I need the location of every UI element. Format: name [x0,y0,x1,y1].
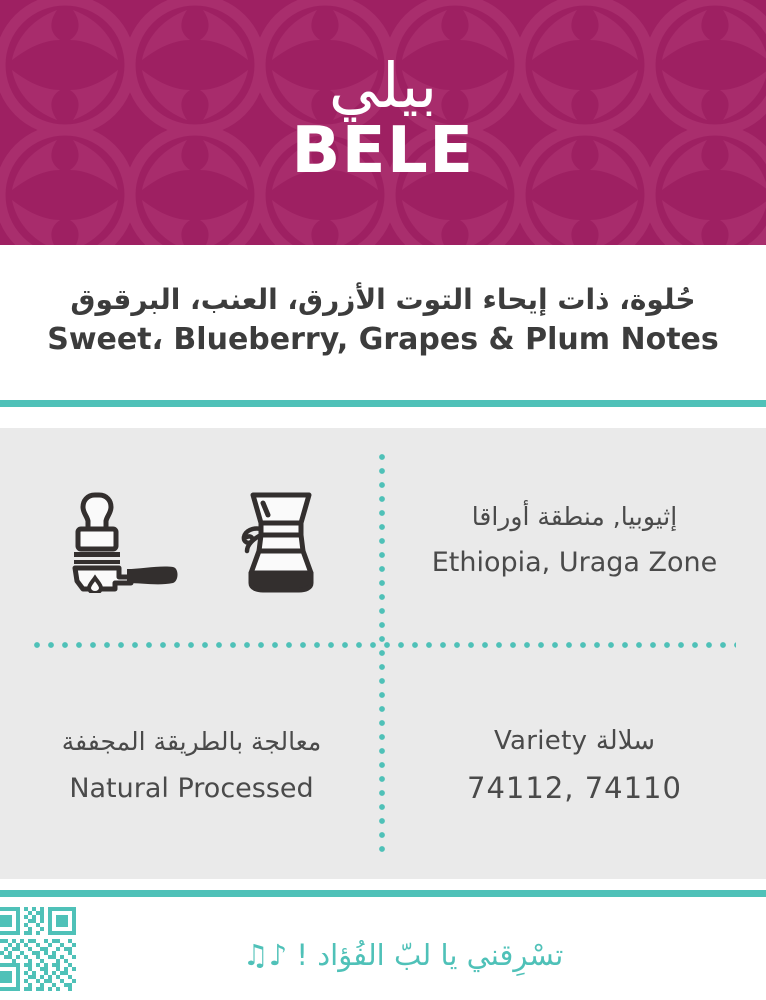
brand-name-english: BELE [292,119,475,183]
espresso-portafilter-tamper-icon [57,489,179,593]
variety-value: 74112, 74110 [467,770,682,808]
process-english: Natural Processed [69,771,313,806]
info-panel: إثيوبيا, منطقة أوراقا Ethiopia, Uraga Zo… [0,428,766,879]
spacer-below-info-panel [0,879,766,890]
origin-cell: إثيوبيا, منطقة أوراقا Ethiopia, Uraga Zo… [383,428,766,654]
variety-cell: Variety سلالة 74112, 74110 [383,654,766,880]
origin-arabic: إثيوبيا, منطقة أوراقا [472,501,677,534]
coffee-label: بيلي BELE حُلوة، ذات إيحاء التوت الأزرق،… [0,0,766,1000]
brand-name-arabic: بيلي [292,56,475,117]
process-cell: معالجة بالطريقة المجففة Natural Processe… [0,654,383,880]
divider-rule-bottom [0,890,766,897]
variety-heading: Variety سلالة [494,725,655,759]
divider-rule-top [0,400,766,407]
brew-method-cell [0,428,383,654]
brew-method-icons [57,489,327,593]
tasting-notes-section: حُلوة، ذات إيحاء التوت الأزرق، العنب، ال… [0,245,766,400]
slogan-text: تسْرِقني يا لبّ الفُؤاد ! ♪♫ [0,937,766,975]
chemex-pourover-icon [235,489,327,593]
process-arabic: معالجة بالطريقة المجففة [62,726,321,759]
label-footer: تسْرِقني يا لبّ الفُؤاد ! ♪♫ [0,897,766,1000]
label-header: بيلي BELE [0,0,766,245]
tasting-notes-english: Sweet، Blueberry, Grapes & Plum Notes [47,322,719,358]
origin-english: Ethiopia, Uraga Zone [432,545,718,580]
info-grid: إثيوبيا, منطقة أوراقا Ethiopia, Uraga Zo… [0,428,766,879]
spacer-above-info-panel [0,407,766,428]
tasting-notes-arabic: حُلوة، ذات إيحاء التوت الأزرق، العنب، ال… [70,282,695,317]
brand-block: بيلي BELE [292,56,475,189]
